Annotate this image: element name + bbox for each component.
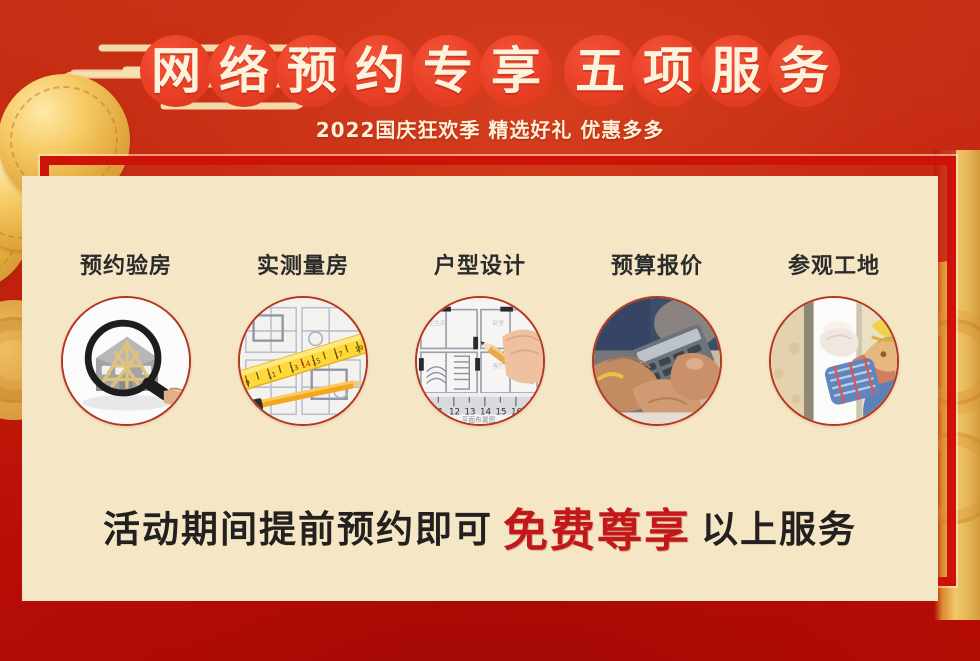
title-char-9: 服	[699, 34, 773, 108]
svg-text:15: 15	[496, 407, 507, 417]
title-char-3: 预	[275, 34, 349, 108]
banner-title: 网络预约专享五项服务	[0, 34, 980, 108]
title-char-4: 约	[343, 34, 417, 108]
title-char-8: 项	[631, 34, 705, 108]
tape-measure-blueprint-icon: 911 1315 1719 14	[238, 296, 368, 426]
floorplan-pencil-ruler-icon: 卫生间卧室客厅	[415, 296, 545, 426]
banner-subtitle: 2022国庆狂欢季 精选好礼 优惠多多	[0, 114, 980, 143]
title-char-glyph: 务	[779, 46, 829, 96]
svg-text:平面布置图: 平面布置图	[462, 415, 496, 424]
title-char-glyph: 项	[643, 46, 693, 96]
title-char-5: 专	[411, 34, 485, 108]
svg-text:11: 11	[433, 407, 444, 417]
title-char-7: 五	[563, 34, 637, 108]
service-item-1[interactable]: 预约验房	[45, 248, 208, 426]
service-label: 预算报价	[611, 248, 703, 280]
service-item-4[interactable]: 预算报价	[576, 248, 739, 426]
title-char-10: 务	[767, 34, 841, 108]
service-item-2[interactable]: 实测量房	[222, 248, 385, 426]
promo-banner: 网络预约专享五项服务 2022国庆狂欢季 精选好礼 优惠多多 预约验房	[0, 0, 980, 661]
title-char-glyph: 专	[423, 46, 473, 96]
banner-header: 网络预约专享五项服务 2022国庆狂欢季 精选好礼 优惠多多	[0, 0, 980, 160]
title-char-glyph: 享	[491, 46, 541, 96]
tagline-prefix: 活动期间提前预约即可	[103, 499, 493, 553]
svg-text:卫生间: 卫生间	[429, 319, 447, 327]
service-label: 户型设计	[434, 248, 526, 280]
tagline-suffix: 以上服务	[701, 499, 857, 553]
service-label: 预约验房	[80, 248, 172, 280]
service-label: 实测量房	[257, 248, 349, 280]
tagline-highlight: 免费尊享	[503, 494, 691, 559]
svg-text:12: 12	[449, 407, 460, 417]
svg-text:0: 0	[418, 407, 424, 417]
calculator-hands-icon	[592, 296, 722, 426]
svg-text:17: 17	[527, 407, 538, 417]
title-char-glyph: 服	[711, 46, 761, 96]
service-list: 预约验房	[22, 176, 938, 486]
title-char-glyph: 约	[355, 46, 405, 96]
service-item-3[interactable]: 户型设计	[399, 248, 562, 426]
title-char-6: 享	[479, 34, 553, 108]
title-char-2: 络	[207, 34, 281, 108]
svg-text:卧室: 卧室	[493, 319, 505, 327]
service-item-5[interactable]: 参观工地	[753, 248, 916, 426]
magnifier-house-icon	[61, 296, 191, 426]
title-char-glyph: 预	[287, 46, 337, 96]
title-char-glyph: 网	[151, 46, 201, 96]
service-label: 参观工地	[788, 248, 880, 280]
title-char-glyph: 络	[219, 46, 269, 96]
promo-tagline: 活动期间提前预约即可 免费尊享 以上服务	[22, 486, 938, 566]
svg-text:16: 16	[511, 407, 522, 417]
title-char-1: 网	[139, 34, 213, 108]
title-char-glyph: 五	[575, 46, 625, 96]
worker-wall-icon	[769, 296, 899, 426]
